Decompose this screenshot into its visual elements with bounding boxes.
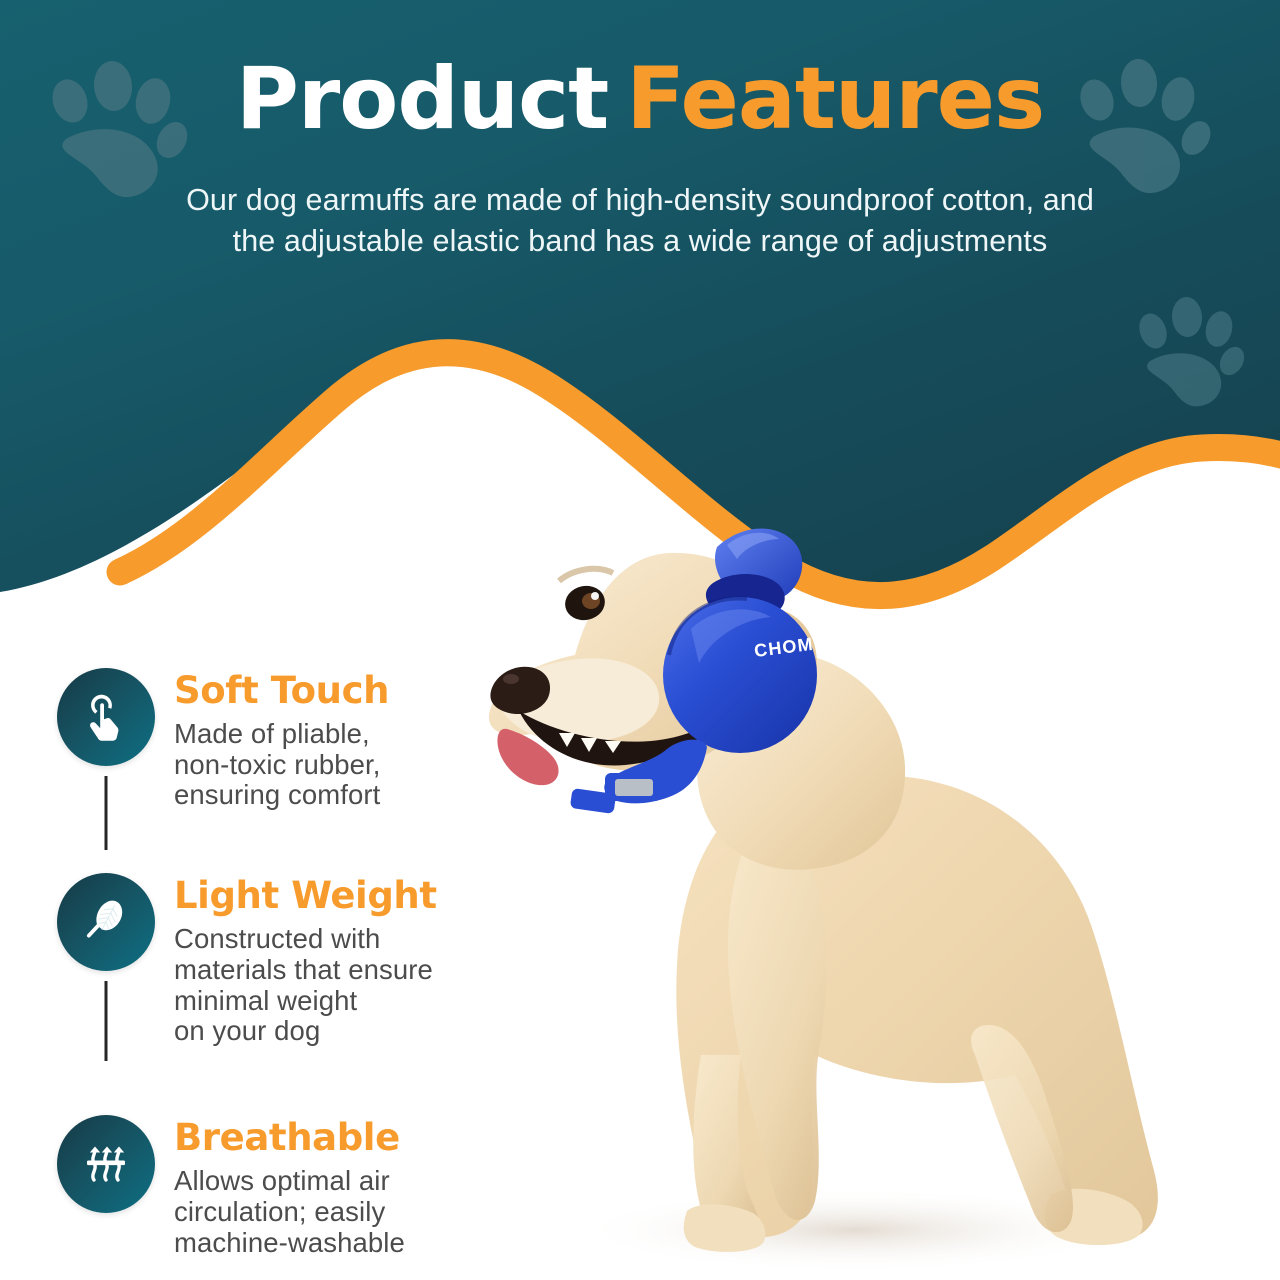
feature-icon-column-2 bbox=[44, 873, 168, 971]
light-weight-icon-badge bbox=[57, 873, 155, 971]
feature-item-soft-touch: Soft Touch Made of pliable, non-toxic ru… bbox=[44, 668, 564, 811]
feature-2-line-3: minimal weight bbox=[174, 986, 437, 1017]
feature-description-3: Allows optimal air circulation; easily m… bbox=[174, 1166, 405, 1258]
page-title: ProductFeatures bbox=[0, 56, 1280, 142]
feature-3-line-1: Allows optimal air bbox=[174, 1166, 405, 1197]
feather-icon bbox=[78, 894, 134, 950]
feature-text-column-2: Light Weight Constructed with materials … bbox=[168, 873, 437, 1047]
title-part-product: Product bbox=[236, 56, 608, 142]
airflow-icon bbox=[78, 1136, 134, 1192]
airflow-bar bbox=[87, 1161, 125, 1166]
feature-title-1: Soft Touch bbox=[174, 672, 389, 711]
earmuff-buckle-insert bbox=[615, 779, 653, 796]
feature-description-2: Constructed with materials that ensure m… bbox=[174, 924, 437, 1047]
feature-2-line-2: materials that ensure bbox=[174, 955, 437, 986]
dog-front-paw bbox=[684, 1204, 766, 1252]
title-part-features: Features bbox=[626, 56, 1044, 142]
feature-title-2: Light Weight bbox=[174, 877, 437, 916]
feature-connector-2 bbox=[105, 981, 108, 1061]
dog-rear-paw bbox=[1045, 1189, 1143, 1245]
dog-tail-fur bbox=[971, 1025, 1073, 1232]
tap-hand-icon bbox=[79, 690, 133, 744]
dog-chest-fur bbox=[728, 819, 826, 1220]
page-subtitle: Our dog earmuffs are made of high-densit… bbox=[60, 180, 1220, 263]
earmuff-strap-end bbox=[570, 788, 616, 814]
feature-title-3: Breathable bbox=[174, 1119, 405, 1158]
feature-text-column-1: Soft Touch Made of pliable, non-toxic ru… bbox=[168, 668, 389, 811]
feature-1-line-3: ensuring comfort bbox=[174, 780, 389, 811]
subtitle-line-1: Our dog earmuffs are made of high-densit… bbox=[60, 180, 1220, 221]
earmuff-buckle bbox=[605, 773, 661, 801]
feature-1-line-1: Made of pliable, bbox=[174, 719, 389, 750]
dog-body bbox=[676, 774, 1158, 1242]
earmuff-chin-strap bbox=[604, 740, 707, 804]
dog-floor-shadow bbox=[575, 1188, 1135, 1272]
breathable-icon-badge bbox=[57, 1115, 155, 1213]
subtitle-line-2: the adjustable elastic band has a wide r… bbox=[60, 221, 1220, 262]
soft-touch-icon-badge bbox=[57, 668, 155, 766]
feature-2-line-4: on your dog bbox=[174, 1016, 437, 1047]
feature-item-light-weight: Light Weight Constructed with materials … bbox=[44, 873, 564, 1047]
feature-icon-column-3 bbox=[44, 1115, 168, 1213]
feature-list: Soft Touch Made of pliable, non-toxic ru… bbox=[44, 668, 564, 1259]
infographic-canvas: ProductFeatures Our dog earmuffs are mad… bbox=[0, 0, 1280, 1280]
feature-2-line-1: Constructed with bbox=[174, 924, 437, 955]
dog-front-leg bbox=[693, 1055, 759, 1243]
feature-connector-1 bbox=[105, 776, 108, 850]
feature-3-line-2: circulation; easily bbox=[174, 1197, 405, 1228]
feature-icon-column-1 bbox=[44, 668, 168, 766]
feature-3-line-3: machine-washable bbox=[174, 1228, 405, 1259]
feature-description-1: Made of pliable, non-toxic rubber, ensur… bbox=[174, 719, 389, 811]
feature-1-line-2: non-toxic rubber, bbox=[174, 750, 389, 781]
feature-item-breathable: Breathable Allows optimal air circulatio… bbox=[44, 1115, 564, 1258]
dog-teeth bbox=[559, 733, 621, 753]
feature-text-column-3: Breathable Allows optimal air circulatio… bbox=[168, 1115, 405, 1258]
